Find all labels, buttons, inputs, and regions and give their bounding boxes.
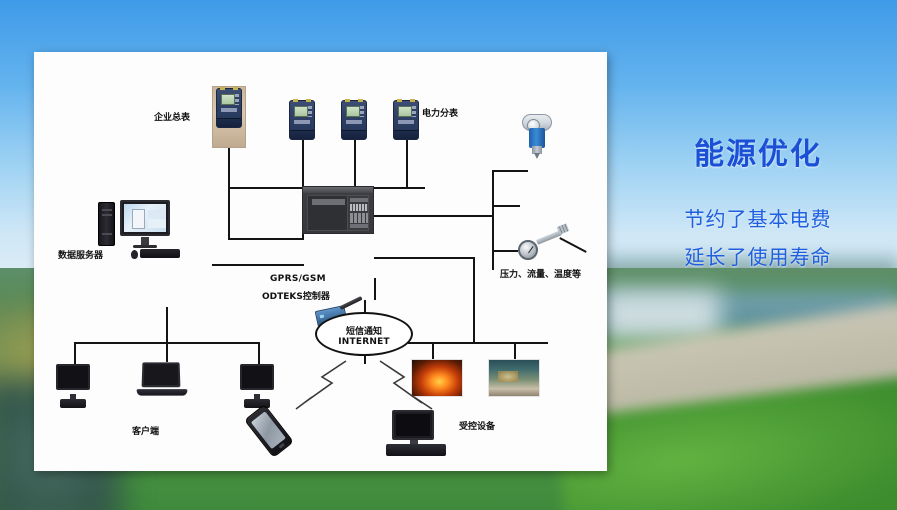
meter-terminal-left (397, 99, 402, 102)
laptop-keyboard-deck (136, 389, 187, 395)
gauge-needle (528, 246, 533, 253)
wire-controller-right (374, 257, 474, 259)
meter-terminal-right (358, 99, 363, 102)
controller-front-panel (307, 195, 349, 231)
screen-window-chart (148, 219, 166, 228)
meter-terminal-right (306, 99, 311, 102)
diagram-card: 企业总表 (34, 52, 607, 471)
wire-client2-drop (166, 342, 168, 362)
meter-label-strip (398, 120, 414, 124)
label-sensors: 压力、流量、温度等 (500, 267, 581, 280)
background-highlight (600, 290, 720, 340)
slide-canvas: 企业总表 (0, 0, 897, 510)
meter-terminal-cover (290, 130, 314, 139)
client-desktop-1 (56, 364, 90, 390)
transmitter-body (529, 128, 545, 148)
enterprise-meter-device (212, 86, 246, 148)
server-keyboard (140, 249, 180, 258)
label-controlled-equipment: 受控设备 (459, 419, 495, 432)
meter-buttons (412, 106, 416, 117)
panel-benefit-2: 延长了使用寿命 (630, 247, 886, 268)
equipment-photo-plant (488, 359, 540, 397)
wire-submeter1-drop (302, 140, 304, 188)
monitor-base (133, 245, 157, 248)
controller-bottom-terminal (350, 224, 368, 228)
meter-display (294, 106, 308, 117)
monitor-screen-content (124, 204, 166, 232)
wire-right-drop (473, 257, 475, 342)
laptop-screen (142, 362, 181, 387)
tower-drive-bay (102, 214, 112, 216)
wire-controller-to-server (212, 264, 304, 266)
wireless-link-left-icon (284, 357, 354, 417)
meter-buttons (308, 106, 312, 117)
panel-headline: 能源优化 (630, 138, 886, 171)
modem-led (320, 315, 325, 319)
monitor-screen (56, 364, 90, 390)
meter-buttons (360, 106, 364, 117)
tower-drive-bay (102, 209, 112, 211)
label-sms-notice: 短信通知 (317, 324, 411, 337)
wire-enterprise-drop (228, 148, 230, 188)
wire-sensor-top (492, 170, 528, 172)
monitor-base (60, 399, 86, 408)
server-mouse (131, 250, 138, 259)
meter-terminal-right (410, 99, 415, 102)
meter-display (398, 106, 412, 117)
wire-controller-to-sensorbus (374, 215, 456, 217)
remote-pc-tower (386, 444, 446, 456)
meter-terminal-left (293, 99, 298, 102)
wire-equipment2-drop (514, 342, 516, 360)
server-monitor (120, 200, 170, 236)
controller-top-strip (303, 187, 373, 193)
wireless-link-right-icon (374, 357, 444, 417)
wire-submeter3-drop (406, 140, 408, 188)
odteks-controller-device (302, 186, 374, 234)
system-topology-diagram: 企业总表 (34, 52, 607, 471)
wire-enterprise-to-controller (228, 187, 230, 239)
pressure-transmitter-device (520, 112, 554, 160)
wire-equipment-bus (408, 342, 548, 344)
monitor-screen (240, 364, 274, 390)
panel-benefit-1: 节约了基本电费 (630, 209, 886, 230)
client-desktop-2 (240, 364, 274, 390)
meter-display (221, 94, 235, 105)
meter-label-strip (221, 108, 237, 112)
controller-display (312, 199, 345, 205)
meter-label-strip (294, 120, 310, 124)
modem-antenna (339, 296, 362, 310)
message-panel: 能源优化 节约了基本电费 延长了使用寿命 (630, 138, 886, 268)
meter-buttons (235, 94, 239, 105)
meter-terminal-cover (394, 130, 418, 139)
label-internet: INTERNET (317, 337, 411, 347)
probe-connector (557, 223, 569, 234)
wire-client1-drop (74, 342, 76, 364)
power-submeter-1 (289, 100, 315, 140)
label-controller: ODTEKS控制器 (262, 289, 330, 302)
label-data-server: 数据服务器 (58, 248, 103, 261)
label-enterprise-meter: 企业总表 (154, 110, 190, 123)
wire-client3-drop (258, 342, 260, 364)
remote-pc-device (386, 410, 446, 458)
wire-to-transmitter (492, 205, 520, 207)
screen-window-panel (148, 210, 166, 217)
data-server-device (96, 192, 216, 282)
wire-submeter2-drop (354, 140, 356, 188)
controller-terminal-row (350, 198, 368, 202)
electric-meter-icon (216, 88, 242, 128)
meter-terminal-left (345, 99, 350, 102)
controller-io-panel (347, 195, 369, 231)
remote-monitor-screen (396, 414, 430, 436)
transmitter-tip (534, 153, 540, 159)
wire-controller-left-in (228, 238, 304, 240)
meter-label-strip (346, 120, 362, 124)
meter-display (346, 106, 360, 117)
wire-probe-cable (559, 237, 586, 253)
wire-controller-down (374, 278, 376, 300)
label-client: 客户端 (132, 424, 159, 437)
meter-terminal-right (233, 87, 238, 90)
controller-dip-switches (350, 204, 368, 211)
client-laptop (142, 362, 180, 387)
meter-terminal-cover (342, 130, 366, 139)
screen-window-main (132, 209, 145, 229)
meter-terminal-cover (217, 118, 241, 127)
power-submeter-2 (341, 100, 367, 140)
label-gprs-gsm: GPRS/GSM (270, 274, 326, 284)
controller-keypad (350, 213, 368, 223)
meter-terminal-left (220, 87, 225, 90)
label-power-submeter: 电力分表 (422, 106, 458, 119)
wire-to-gauge (492, 250, 518, 252)
internet-cloud-node: 短信通知 INTERNET (315, 312, 413, 356)
power-submeter-3 (393, 100, 419, 140)
server-tower (98, 202, 115, 246)
monitor-stand (141, 237, 149, 245)
tower-power-button (102, 233, 112, 235)
pressure-gauge-icon (518, 240, 538, 260)
transmitter-neck (532, 146, 542, 154)
phone-home-button (279, 443, 286, 449)
wire-sensor-mid (454, 215, 492, 217)
remote-monitor (392, 410, 434, 440)
wire-sensor-bus (492, 170, 494, 270)
wire-server-to-clientbus (166, 307, 168, 343)
